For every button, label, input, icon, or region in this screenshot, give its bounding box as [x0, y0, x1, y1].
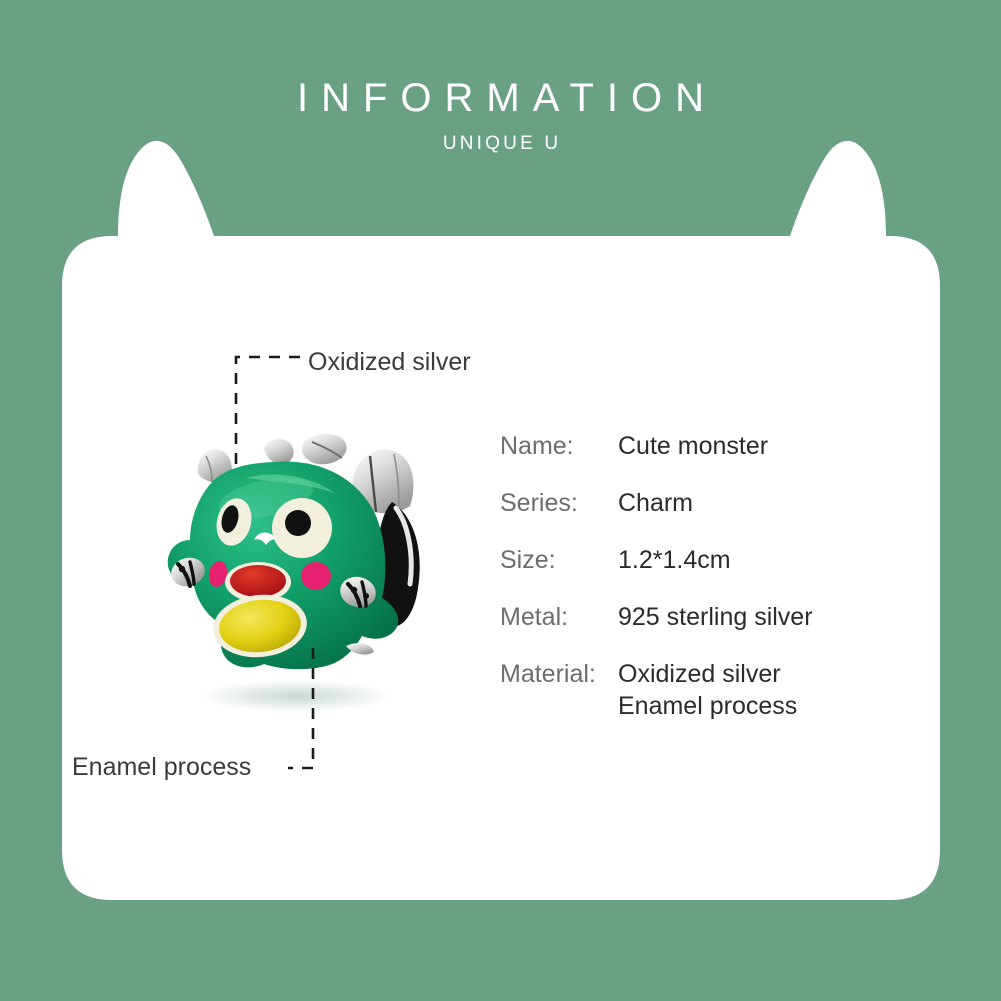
spec-row-size: Size: 1.2*1.4cm: [500, 544, 920, 576]
callout-label-oxidized-silver: Oxidized silver: [308, 350, 471, 375]
information-banner: INFORMATION UNIQUE U: [0, 0, 1001, 1001]
header: INFORMATION UNIQUE U: [0, 0, 1001, 153]
top-center-silver-nub: [264, 439, 294, 465]
spec-label: Metal:: [500, 603, 618, 631]
spec-list: Name: Cute monster Series: Charm Size: 1…: [500, 430, 920, 747]
product-image-cute-monster-charm: [146, 424, 456, 716]
spec-row-name: Name: Cute monster: [500, 430, 920, 462]
spec-value: Cute monster: [618, 430, 768, 462]
foot-silver-fleck: [346, 643, 374, 654]
spec-label: Series:: [500, 489, 618, 517]
right-cheek-pink: [301, 562, 331, 590]
callout-label-enamel-process: Enamel process: [72, 755, 251, 780]
spec-label: Size:: [500, 546, 618, 574]
spec-label: Material:: [500, 660, 618, 688]
spec-row-material: Material: Oxidized silver Enamel process: [500, 658, 920, 722]
page-title: INFORMATION: [0, 78, 1001, 118]
right-eye: [272, 498, 332, 558]
spec-label: Name:: [500, 432, 618, 460]
spec-row-series: Series: Charm: [500, 487, 920, 519]
page-subtitle: UNIQUE U: [0, 134, 1001, 153]
top-right-silver-fleck: [302, 434, 347, 464]
spec-value: Oxidized silver Enamel process: [618, 658, 797, 722]
spec-value: 1.2*1.4cm: [618, 544, 731, 576]
product-shadow: [200, 680, 392, 712]
spec-value: 925 sterling silver: [618, 601, 813, 633]
spec-row-metal: Metal: 925 sterling silver: [500, 601, 920, 633]
spec-value: Charm: [618, 487, 693, 519]
